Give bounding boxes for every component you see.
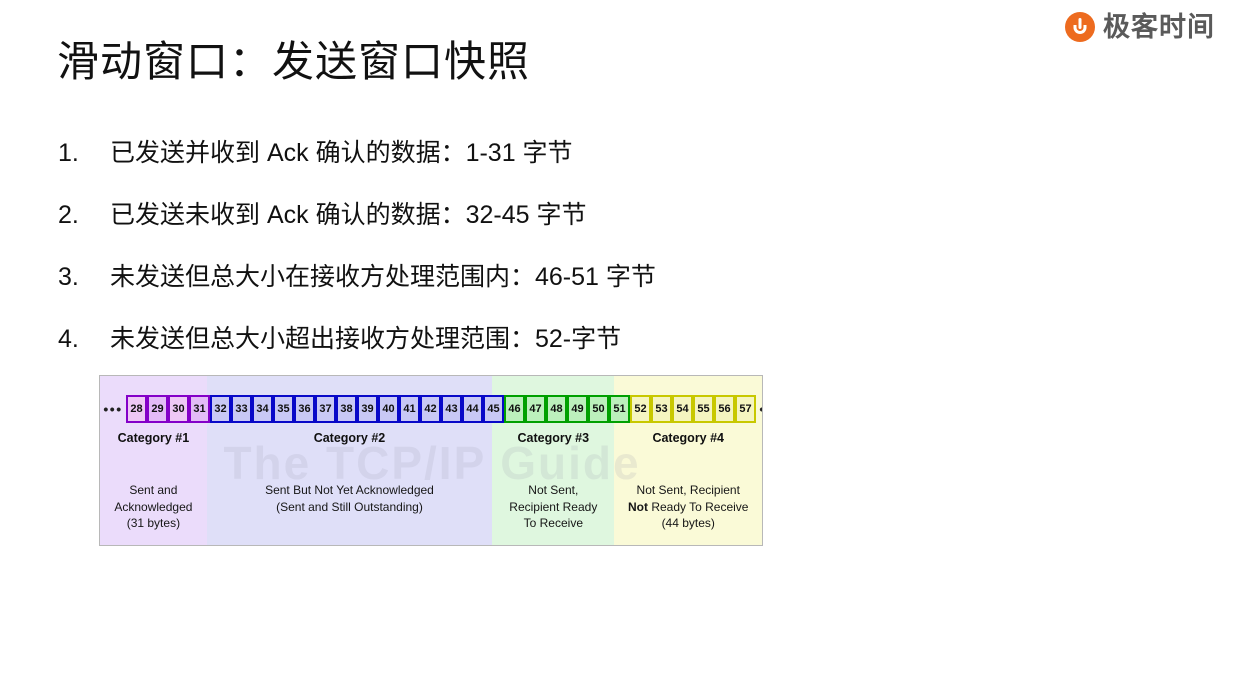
byte-cell: 40 [378,395,399,423]
category-3-line-1: Not Sent, [492,482,614,499]
byte-cell: 52 [630,395,651,423]
list-item-text: 已发送并收到 Ack 确认的数据：1-31 字节 [110,140,573,168]
list-item-number: 2. [58,202,110,230]
category-3-heading: Category #3 [492,432,614,445]
page-title: 滑动窗口：发送窗口快照 [57,36,530,89]
category-3-description: Not Sent, Recipient Ready To Receive [492,482,614,532]
byte-cell: 42 [420,395,441,423]
left-ellipsis: ••• [100,402,126,416]
category-3-line-3: To Receive [492,515,614,532]
category-1-description: Sent and Acknowledged (31 bytes) [100,482,207,532]
list-item-text: 未发送但总大小超出接收方处理范围：52-字节 [110,326,621,354]
byte-cells-category-3: 464748495051 [504,395,630,423]
byte-cell: 37 [315,395,336,423]
byte-cell: 54 [672,395,693,423]
brand-logo: 极客时间 [1065,12,1215,42]
byte-cell: 29 [147,395,168,423]
category-4-line-2-emphasis: Not [628,500,648,514]
byte-cell: 34 [252,395,273,423]
geekbang-logo-icon [1065,12,1095,42]
list-item-number: 4. [58,326,110,354]
list-item-number: 3. [58,264,110,292]
byte-cells-category-4: 525354555657 [630,395,756,423]
byte-cell: 56 [714,395,735,423]
byte-cell: 39 [357,395,378,423]
byte-cell: 35 [273,395,294,423]
category-4-heading: Category #4 [614,432,762,445]
byte-cell: 33 [231,395,252,423]
category-2-line-1: Sent But Not Yet Acknowledged [207,482,492,499]
bullet-list: 1. 已发送并收到 Ack 确认的数据：1-31 字节 2. 已发送未收到 Ac… [58,140,958,388]
byte-cell: 57 [735,395,756,423]
category-4-line-3: (44 bytes) [614,515,762,532]
byte-cell: 38 [336,395,357,423]
byte-cell: 50 [588,395,609,423]
list-item: 3. 未发送但总大小在接收方处理范围内：46-51 字节 [58,264,958,326]
list-item: 2. 已发送未收到 Ack 确认的数据：32-45 字节 [58,202,958,264]
slide-root: { "brand": { "name": "极客时间", "logo_icon"… [0,0,1233,691]
brand-name: 极客时间 [1103,14,1215,41]
byte-strip: ••• 28293031 323334353637383940414243444… [100,394,763,424]
byte-cell: 47 [525,395,546,423]
byte-cell: 48 [546,395,567,423]
sliding-window-diagram: Category #1 Sent and Acknowledged (31 by… [99,375,763,546]
category-2-description: Sent But Not Yet Acknowledged (Sent and … [207,482,492,515]
category-1-line-3: (31 bytes) [100,515,207,532]
category-3-line-2: Recipient Ready [492,499,614,516]
category-4-line-2-rest: Ready To Receive [648,500,749,514]
category-1-line-2: Acknowledged [100,499,207,516]
byte-cell: 46 [504,395,525,423]
list-item: 1. 已发送并收到 Ack 确认的数据：1-31 字节 [58,140,958,202]
category-1-heading: Category #1 [100,432,207,445]
byte-cell: 30 [168,395,189,423]
category-2-heading: Category #2 [207,432,492,445]
right-ellipsis: ••• [756,402,763,416]
list-item-number: 1. [58,140,110,168]
byte-cell: 51 [609,395,630,423]
category-4-line-2: Not Ready To Receive [614,499,762,516]
byte-cell: 41 [399,395,420,423]
byte-cell: 36 [294,395,315,423]
list-item-text: 已发送未收到 Ack 确认的数据：32-45 字节 [110,202,586,230]
category-1-line-1: Sent and [100,482,207,499]
byte-cell: 53 [651,395,672,423]
byte-cells-category-2: 3233343536373839404142434445 [210,395,504,423]
byte-cells-category-1: 28293031 [126,395,210,423]
byte-cell: 32 [210,395,231,423]
byte-cell: 43 [441,395,462,423]
byte-cell: 44 [462,395,483,423]
category-2-line-2: (Sent and Still Outstanding) [207,499,492,516]
byte-cell: 49 [567,395,588,423]
byte-cell: 45 [483,395,504,423]
byte-cell: 28 [126,395,147,423]
category-4-line-1: Not Sent, Recipient [614,482,762,499]
byte-cell: 31 [189,395,210,423]
list-item-text: 未发送但总大小在接收方处理范围内：46-51 字节 [110,264,656,292]
category-4-description: Not Sent, Recipient Not Ready To Receive… [614,482,762,532]
byte-cell: 55 [693,395,714,423]
